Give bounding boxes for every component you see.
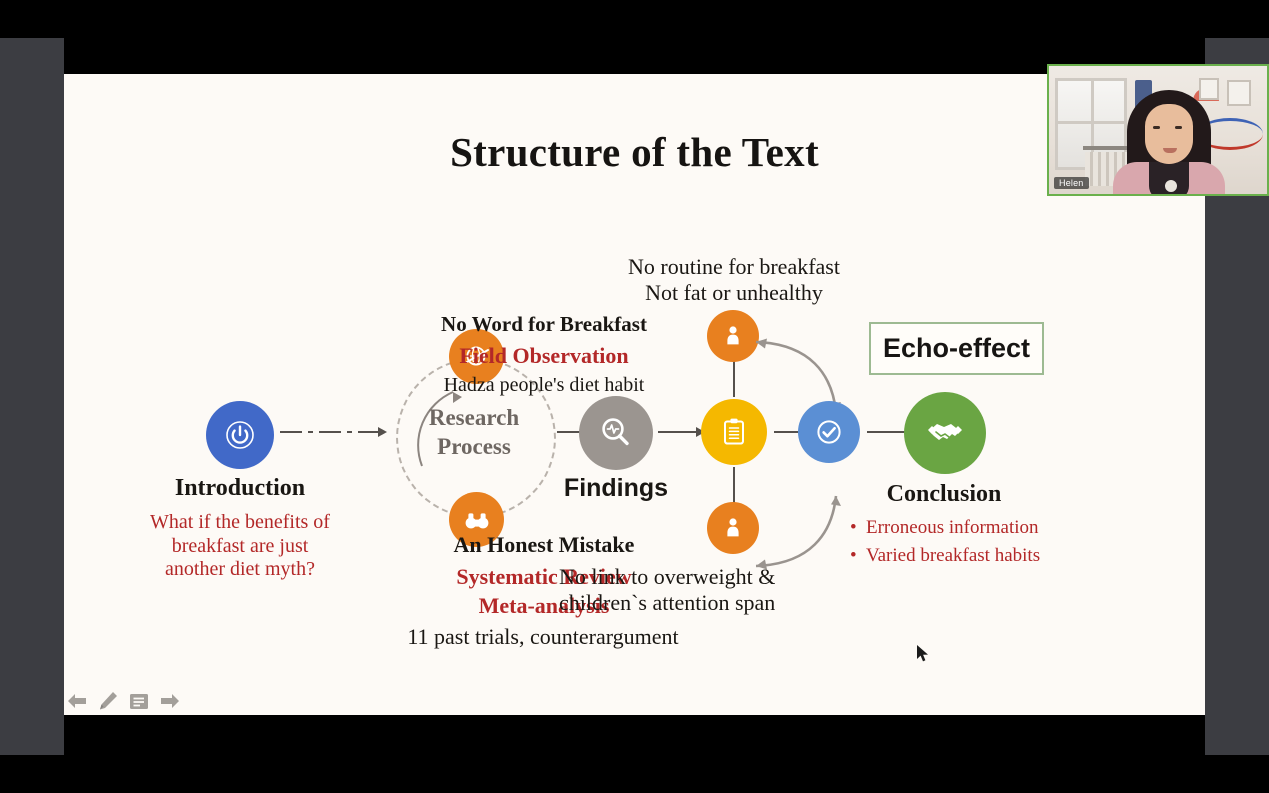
conclusion-bullet-2: •Varied breakfast habits bbox=[850, 542, 1040, 570]
participant-eye bbox=[1153, 126, 1160, 129]
previous-slide-arrow-icon[interactable] bbox=[66, 691, 88, 716]
person-bottom-caption-2: children`s attention span bbox=[559, 590, 899, 616]
mouse-cursor bbox=[916, 644, 930, 669]
introduction-detail-line-3: another diet myth? bbox=[132, 558, 348, 582]
introduction-detail-line-2: breakfast are just bbox=[132, 535, 348, 559]
bullet-dot-icon: • bbox=[850, 514, 866, 542]
connector-verify-to-conclusion bbox=[867, 431, 909, 433]
introduction-heading: Introduction bbox=[150, 474, 330, 502]
conclusion-node[interactable] bbox=[904, 392, 986, 474]
echo-effect-box[interactable]: Echo-effect bbox=[869, 322, 1044, 375]
notes-tool-icon[interactable] bbox=[128, 692, 150, 716]
participant-face bbox=[1145, 104, 1193, 164]
verify-node[interactable] bbox=[798, 401, 860, 463]
findings-node[interactable] bbox=[579, 396, 653, 470]
introduction-detail-line-1: What if the benefits of bbox=[132, 511, 348, 535]
field-observation-heading: No Word for Breakfast bbox=[364, 312, 724, 337]
slide-title: Structure of the Text bbox=[64, 128, 1205, 176]
next-slide-arrow-icon[interactable] bbox=[159, 691, 181, 716]
field-observation-detail: Hadza people's diet habit bbox=[354, 374, 734, 398]
introduction-detail: What if the benefits of breakfast are ju… bbox=[132, 511, 348, 582]
introduction-node[interactable] bbox=[206, 401, 274, 469]
background-picture-frame bbox=[1199, 78, 1219, 100]
person-top-caption-1: No routine for breakfast bbox=[564, 254, 904, 280]
curve-person-bottom-to-verify bbox=[740, 472, 860, 582]
pen-tool-icon[interactable] bbox=[97, 690, 119, 717]
research-process-line-2: Process bbox=[414, 433, 534, 462]
honest-mistake-detail: 11 past trials, counterargument bbox=[308, 624, 778, 650]
check-circle-icon bbox=[813, 416, 845, 448]
participant-name-badge: Helen bbox=[1054, 177, 1089, 189]
connector-findings-to-clipboard bbox=[658, 431, 698, 433]
webcam-tile[interactable]: Helen bbox=[1047, 64, 1269, 196]
honest-mistake-heading: An Honest Mistake bbox=[366, 532, 722, 558]
meeting-left-panel bbox=[0, 38, 64, 755]
participant-eye bbox=[1175, 126, 1182, 129]
presentation-slide[interactable]: Structure of the Text Introduction What … bbox=[64, 74, 1205, 715]
connector-intro-to-process bbox=[280, 431, 380, 433]
conclusion-bullet-2-text: Varied breakfast habits bbox=[866, 545, 1040, 566]
research-process-line-1: Research bbox=[414, 404, 534, 433]
magnifier-pulse-icon bbox=[597, 414, 635, 452]
conclusion-heading: Conclusion bbox=[854, 480, 1034, 508]
power-icon bbox=[223, 418, 257, 452]
person-top-caption-2: Not fat or unhealthy bbox=[564, 280, 904, 306]
conclusion-bullet-1-text: Erroneous information bbox=[866, 517, 1039, 538]
findings-label: Findings bbox=[546, 474, 686, 504]
bullet-dot-icon: • bbox=[850, 542, 866, 570]
echo-effect-label: Echo-effect bbox=[883, 333, 1030, 364]
conclusion-bullet-1: •Erroneous information bbox=[850, 514, 1040, 542]
slideshow-toolbar[interactable] bbox=[66, 690, 181, 717]
binoculars-icon bbox=[463, 506, 491, 534]
conclusion-bullets: •Erroneous information •Varied breakfast… bbox=[850, 514, 1040, 569]
field-observation-method: Field Observation bbox=[364, 343, 724, 369]
screen: Structure of the Text Introduction What … bbox=[0, 0, 1269, 793]
connector-intro-arrowhead bbox=[378, 427, 387, 437]
participant-brooch bbox=[1163, 178, 1179, 194]
handshake-icon bbox=[923, 411, 967, 455]
background-picture-frame bbox=[1227, 80, 1251, 106]
research-process-label: Research Process bbox=[414, 404, 534, 462]
